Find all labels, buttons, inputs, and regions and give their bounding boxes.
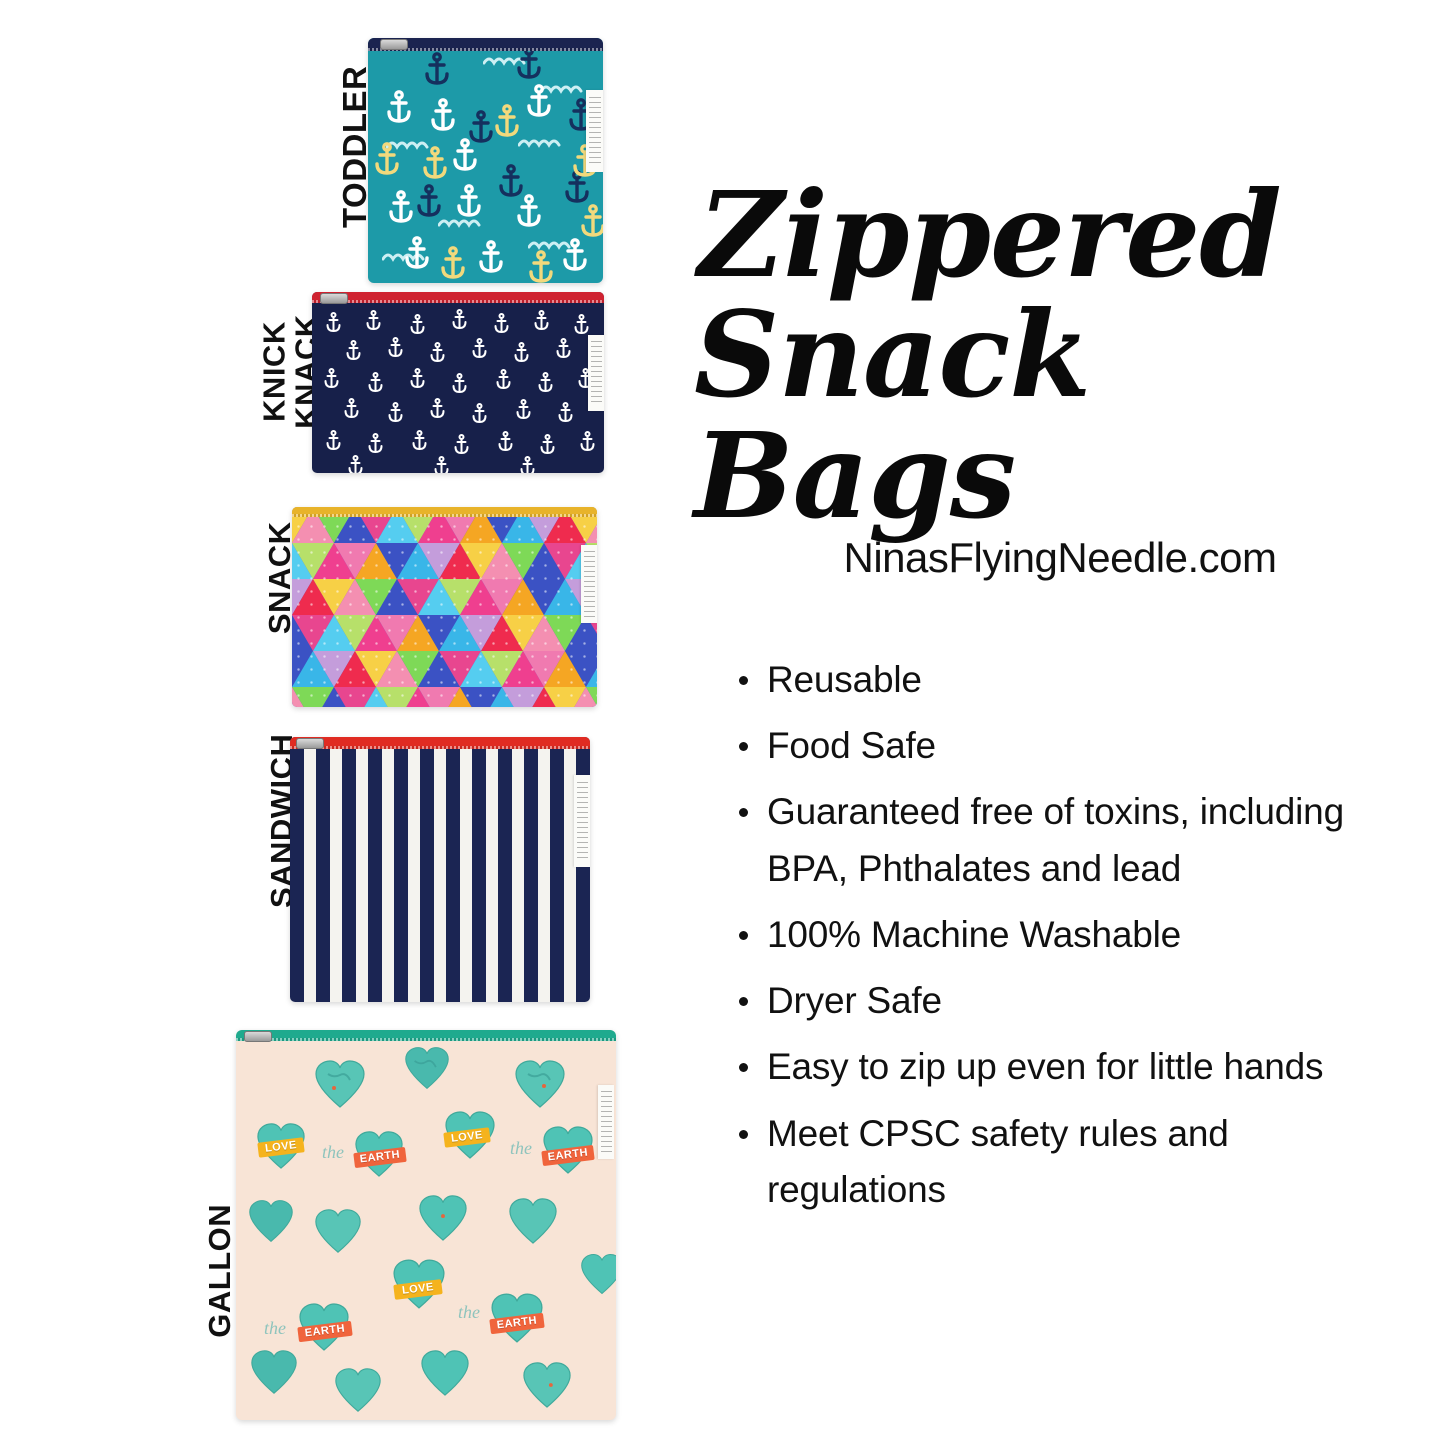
size-label-gallon: GALLON	[204, 1171, 236, 1371]
feature-text: Reusable	[767, 659, 922, 700]
word-the: the	[458, 1302, 480, 1323]
bag-image-gallon: LOVE the EARTH LOVE the EARTH the EART	[236, 1030, 616, 1420]
word-the: the	[322, 1142, 344, 1163]
feature-item: 100% Machine Washable	[733, 907, 1393, 963]
feature-text: 100% Machine Washable	[767, 914, 1181, 955]
feature-text: Easy to zip up even for little hands	[767, 1046, 1323, 1087]
bullet-icon	[739, 742, 748, 751]
bullet-icon	[739, 1063, 748, 1072]
feature-item: Dryer Safe	[733, 973, 1393, 1029]
care-tag-toddler	[586, 90, 603, 172]
feature-text: Guaranteed free of toxins, including BPA…	[767, 791, 1344, 888]
bag-image-sandwich	[290, 737, 590, 1002]
bullet-icon	[739, 997, 748, 1006]
headline: Zippered Snack Bags	[690, 175, 1430, 536]
feature-item: Easy to zip up even for little hands	[733, 1039, 1393, 1095]
zipper-pull-icon	[296, 738, 324, 749]
bag-image-knick-knack	[312, 292, 604, 473]
zipper-pull-icon	[244, 1031, 272, 1042]
feature-text: Dryer Safe	[767, 980, 942, 1021]
triangle-shape	[586, 651, 597, 687]
anchor-pattern	[368, 38, 603, 283]
triangle-shape	[586, 687, 597, 707]
size-label-toddler: TODDLER	[338, 47, 372, 247]
bag-image-snack	[292, 507, 597, 707]
feature-text: Meet CPSC safety rules and regulations	[767, 1113, 1229, 1210]
bullet-icon	[739, 808, 748, 817]
heart-pattern: LOVE the EARTH LOVE the EARTH the EART	[236, 1030, 616, 1420]
feature-item: Meet CPSC safety rules and regulations	[733, 1106, 1393, 1218]
feature-item: Food Safe	[733, 718, 1393, 774]
bullet-icon	[739, 676, 748, 685]
website-url: NinasFlyingNeedle.com	[690, 534, 1430, 582]
word-the: the	[510, 1138, 532, 1159]
bullet-icon	[739, 931, 748, 940]
zipper-snack	[292, 507, 597, 517]
word-the: the	[264, 1318, 286, 1339]
headline-line-2: Snack Bags	[694, 295, 1430, 536]
headline-line-1: Zippered	[698, 175, 1430, 295]
bag-image-toddler	[368, 38, 603, 283]
care-tag-sandwich	[574, 775, 590, 867]
small-anchor-pattern	[312, 292, 604, 473]
care-tag-snack	[581, 545, 597, 623]
feature-item: Reusable	[733, 652, 1393, 708]
feature-item: Guaranteed free of toxins, including BPA…	[733, 784, 1393, 896]
zipper-knick-knack	[312, 292, 604, 303]
stripe-pattern	[290, 737, 590, 1002]
zipper-pull-icon	[320, 293, 348, 304]
care-tag-knick-knack	[588, 335, 604, 411]
feature-list: ReusableFood SafeGuaranteed free of toxi…	[733, 652, 1393, 1228]
zipper-pull-icon	[380, 39, 408, 50]
zipper-sandwich	[290, 737, 590, 749]
bullet-icon	[739, 1130, 748, 1139]
zipper-gallon	[236, 1030, 616, 1041]
feature-text: Food Safe	[767, 725, 936, 766]
care-tag-gallon	[598, 1085, 614, 1159]
product-infographic: TODDLER	[0, 0, 1445, 1445]
triangle-pattern	[292, 507, 597, 707]
